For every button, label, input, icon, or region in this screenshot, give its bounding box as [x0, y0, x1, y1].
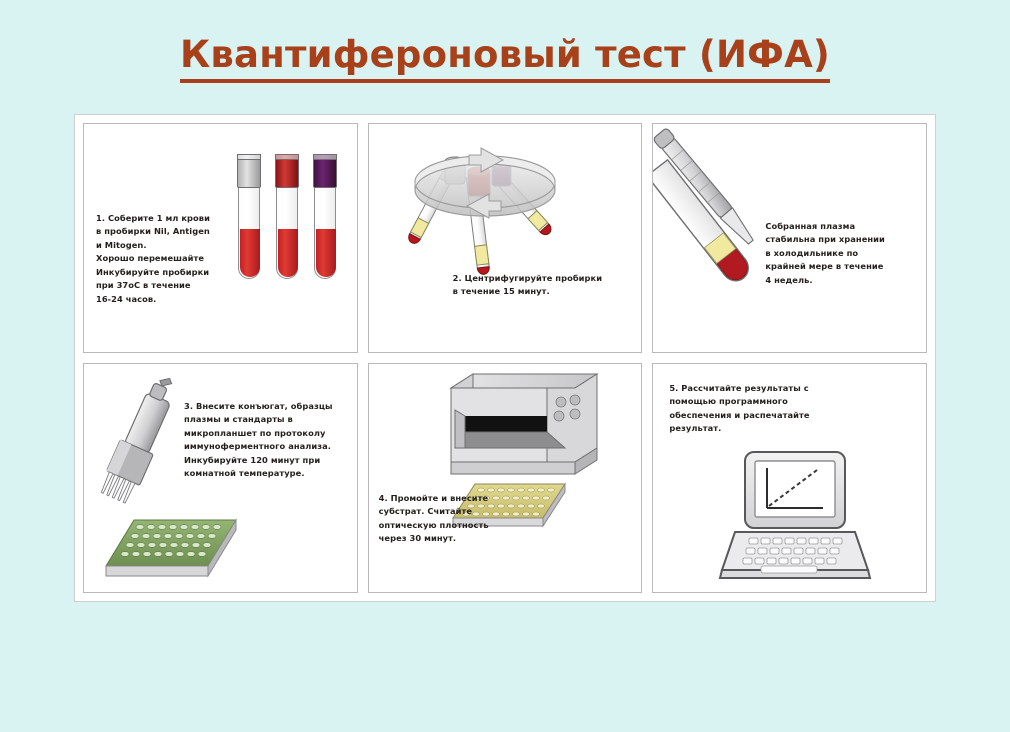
tube-blood	[278, 229, 298, 277]
panel-caption: 5. Рассчитайте результаты с помощью прог…	[669, 382, 845, 436]
page-title: Квантифероновый тест (ИФА)	[180, 34, 830, 83]
panel-grid: 1. Соберите 1 мл крови в пробирки Nil, A…	[83, 123, 927, 593]
tube-blood	[316, 229, 336, 277]
panel-blood-collection: 1. Соберите 1 мл крови в пробирки Nil, A…	[83, 123, 358, 353]
panel-caption: Собранная плазма стабильна при хранении …	[765, 220, 910, 287]
blood-collection-tubes-illustration	[234, 154, 344, 279]
panel-results: 5. Рассчитайте результаты с помощью прог…	[652, 363, 927, 593]
panel-substrate-reading: 4. Промойте и внесите субстрат. Считайте…	[368, 363, 643, 593]
panel-caption: 2. Центрифугируйте пробирки в течение 15…	[453, 272, 613, 299]
tube-mitogen	[314, 154, 336, 279]
panel-caption: 1. Соберите 1 мл крови в пробирки Nil, A…	[96, 212, 248, 306]
laptop-illustration	[705, 448, 885, 588]
panel-conjugate-loading: 3. Внесите конъюгат, образцы плазмы и ст…	[83, 363, 358, 593]
diagram-card: 1. Соберите 1 мл крови в пробирки Nil, A…	[74, 114, 936, 602]
panel-caption: 3. Внесите конъюгат, образцы плазмы и ст…	[184, 400, 350, 481]
panel-centrifuge: 2. Центрифугируйте пробирки в течение 15…	[368, 123, 643, 353]
tube-cap-lip	[237, 154, 261, 160]
tube-antigen	[276, 154, 298, 279]
panel-caption: 4. Промойте и внесите субстрат. Считайте…	[379, 492, 519, 546]
tube-cap-lip	[313, 154, 337, 160]
slide-root: Квантифероновый тест (ИФА)	[0, 0, 1010, 732]
tube-cap-lip	[275, 154, 299, 160]
title-container: Квантифероновый тест (ИФА)	[0, 34, 1010, 83]
panel-plasma-storage: Собранная плазма стабильна при хранении …	[652, 123, 927, 353]
